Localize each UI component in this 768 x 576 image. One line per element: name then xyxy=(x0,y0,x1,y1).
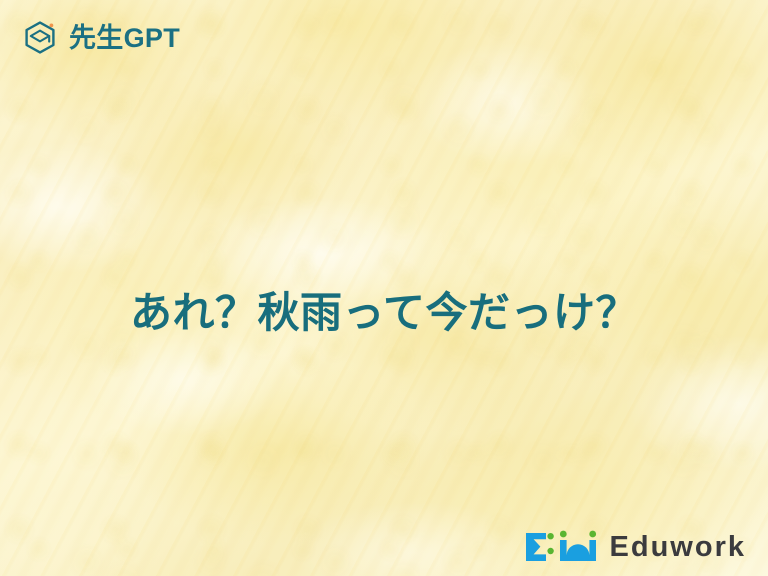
eduwork-wordmark: Eduwork xyxy=(610,533,746,562)
eduwork-mark-icon xyxy=(524,530,598,564)
headline-container: あれ？秋雨って今だっけ？ xyxy=(0,258,768,368)
slide-canvas: 先生GPT あれ？秋雨って今だっけ？ Eduwork xyxy=(0,0,768,576)
brand-logo[interactable]: 先生GPT xyxy=(20,18,180,58)
brand-name-label: 先生GPT xyxy=(69,25,180,52)
graduation-cap-icon xyxy=(20,18,60,58)
page-title: あれ？秋雨って今だっけ？ xyxy=(130,286,638,340)
eduwork-logo[interactable]: Eduwork xyxy=(524,530,746,564)
